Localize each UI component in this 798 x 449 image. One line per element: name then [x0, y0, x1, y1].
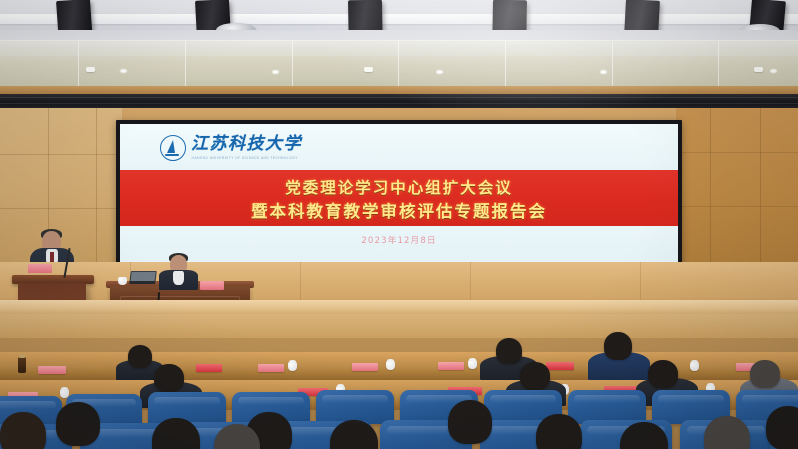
slide-title-line-2: 暨本科教育教学审核评估专题报告会 — [120, 198, 678, 222]
slide-date: 2023年12月8日 — [120, 234, 678, 246]
audience-head — [604, 332, 632, 360]
audience-head — [750, 360, 780, 388]
audience-head-foreground — [0, 412, 46, 449]
audience-chair[interactable] — [568, 390, 646, 424]
audience-name-card — [546, 362, 574, 370]
projection-screen: 江苏科技大学 JIANGSU UNIVERSITY OF SCIENCE AND… — [116, 120, 682, 270]
head-table-tea-cup — [118, 277, 127, 285]
glass-balustrade — [0, 40, 798, 89]
university-name-cn: 江苏科技大学 — [191, 136, 302, 153]
dark-ceiling-beam — [0, 94, 798, 109]
audience-name-card — [196, 364, 222, 372]
laptop-icon — [129, 271, 157, 284]
audience-name-card — [438, 362, 464, 370]
audience-name-card — [258, 364, 284, 372]
audience-head — [128, 345, 152, 368]
slide-header-band: 江苏科技大学 JIANGSU UNIVERSITY OF SCIENCE AND… — [120, 124, 678, 170]
stage-wall-right-panel — [676, 108, 798, 268]
university-logo: 江苏科技大学 JIANGSU UNIVERSITY OF SCIENCE AND… — [160, 135, 302, 161]
audience-name-card — [352, 363, 378, 371]
tea-cup — [690, 362, 699, 371]
tea-cup — [288, 362, 297, 371]
audience-head-foreground — [448, 400, 492, 444]
tea-cup — [468, 360, 477, 369]
slide-footer-band — [120, 226, 678, 266]
audience-head-foreground — [536, 414, 582, 449]
audience-head-foreground — [56, 402, 100, 446]
audience-head — [496, 338, 522, 364]
university-name-en: JIANGSU UNIVERSITY OF SCIENCE AND TECHNO… — [191, 156, 302, 160]
audience-head-foreground — [766, 406, 798, 449]
tea-cup — [386, 361, 395, 370]
sailboat-logo-icon — [160, 135, 186, 161]
thermos-flask — [18, 357, 26, 373]
audience-head — [520, 362, 550, 390]
head-table-name-card — [200, 281, 224, 290]
conference-hall-photo: 江苏科技大学 JIANGSU UNIVERSITY OF SCIENCE AND… — [0, 0, 798, 449]
audience-chair[interactable] — [316, 390, 394, 424]
podium-name-card — [28, 264, 52, 273]
audience-head — [648, 360, 678, 388]
ceiling-light-strip — [0, 14, 798, 24]
audience-name-card — [38, 366, 66, 374]
audience-head — [154, 364, 184, 392]
slide-title-line-1: 党委理论学习中心组扩大会议 — [120, 176, 678, 198]
head-table-person-shirt — [173, 271, 184, 285]
slide-canvas: 江苏科技大学 JIANGSU UNIVERSITY OF SCIENCE AND… — [120, 124, 678, 266]
stage-wall-left-panel — [0, 108, 122, 268]
